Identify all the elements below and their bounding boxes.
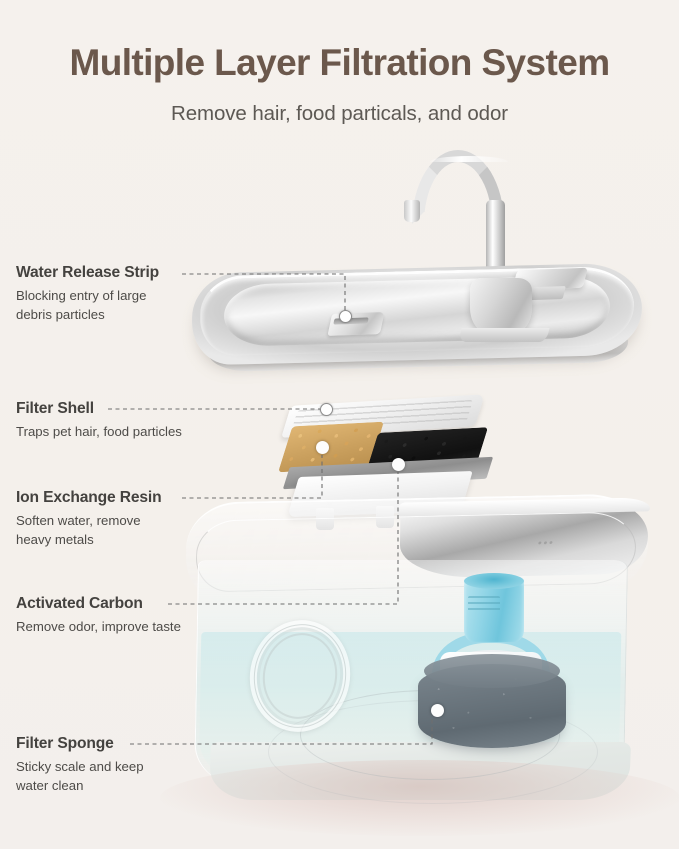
- callout-activated-carbon: Activated Carbon Remove odor, improve ta…: [16, 595, 181, 637]
- marker-activated-carbon: [392, 458, 405, 471]
- callout-title-ion-exchange-resin: Ion Exchange Resin: [16, 489, 161, 507]
- callout-desc-ion-exchange-resin: Soften water, remove heavy metals: [16, 512, 161, 549]
- faucet-foot: [459, 328, 550, 342]
- callout-desc-filter-shell: Traps pet hair, food particles: [16, 423, 182, 442]
- callout-ion-exchange-resin: Ion Exchange Resin Soften water, remove …: [16, 489, 161, 549]
- callout-filter-shell: Filter Shell Traps pet hair, food partic…: [16, 400, 182, 442]
- callout-desc-activated-carbon: Remove odor, improve taste: [16, 618, 181, 637]
- marker-water-release-strip: [339, 310, 352, 323]
- brand-emboss: •••: [537, 538, 556, 550]
- callout-desc-filter-sponge: Sticky scale and keep water clean: [16, 758, 144, 795]
- faucet-spout: [404, 200, 420, 222]
- callout-title-filter-sponge: Filter Sponge: [16, 735, 144, 753]
- pump-nozzle-ribs: [468, 596, 500, 614]
- callout-filter-sponge: Filter Sponge Sticky scale and keep wate…: [16, 735, 144, 795]
- marker-ion-exchange-resin: [316, 441, 329, 454]
- pump-nozzle-opening: [464, 573, 524, 589]
- marker-filter-shell: [320, 403, 333, 416]
- faucet-base: [470, 278, 532, 334]
- filter-sponge-top-face: [424, 654, 560, 688]
- callout-desc-water-release-strip: Blocking entry of large debris particles: [16, 287, 159, 324]
- infographic-page: Multiple Layer Filtration System Remove …: [0, 0, 679, 849]
- callout-title-filter-shell: Filter Shell: [16, 400, 182, 418]
- marker-filter-sponge: [431, 704, 444, 717]
- callout-water-release-strip: Water Release Strip Blocking entry of la…: [16, 264, 159, 324]
- callout-title-water-release-strip: Water Release Strip: [16, 264, 159, 282]
- callout-title-activated-carbon: Activated Carbon: [16, 595, 181, 613]
